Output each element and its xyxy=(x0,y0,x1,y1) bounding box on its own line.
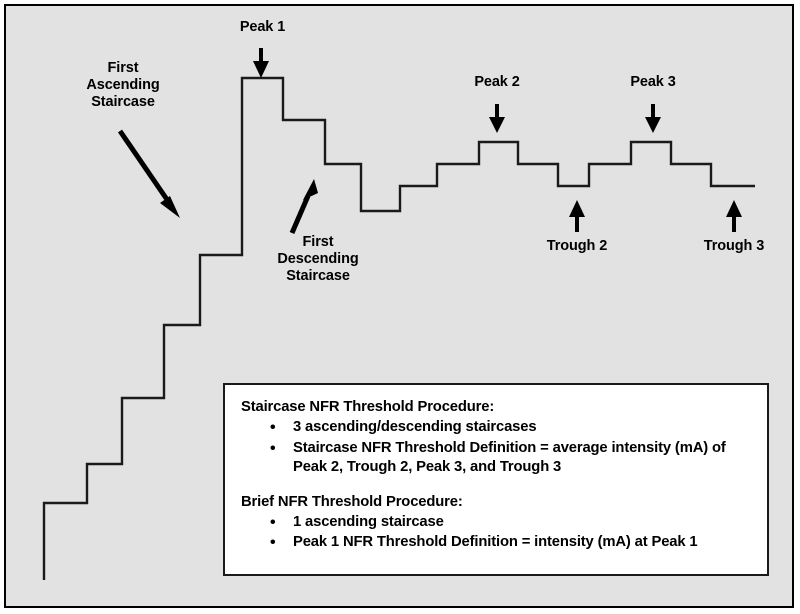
brief-procedure-heading: Brief NFR Threshold Procedure: xyxy=(241,494,751,510)
list-item-text: 1 ascending staircase xyxy=(293,514,444,530)
peak-2-label: Peak 2 xyxy=(447,74,547,91)
trough-3-label: Trough 3 xyxy=(678,238,790,255)
bullet-icon: • xyxy=(270,418,275,438)
list-item: • 3 ascending/descending staircases xyxy=(241,418,751,438)
staircase-procedure-list: • 3 ascending/descending staircases • St… xyxy=(241,418,751,478)
list-item: • Staircase NFR Threshold Definition = a… xyxy=(241,439,751,478)
bullet-icon: • xyxy=(270,439,275,459)
list-item: • 1 ascending staircase xyxy=(241,513,751,533)
trough-2-label: Trough 2 xyxy=(521,238,633,255)
peak-1-arrow-icon xyxy=(253,48,269,78)
list-item-text: 3 ascending/descending staircases xyxy=(293,419,536,435)
brief-procedure-list: • 1 ascending staircase • Peak 1 NFR Thr… xyxy=(241,513,751,553)
staircase-procedure-heading: Staircase NFR Threshold Procedure: xyxy=(241,399,751,415)
peak-2-arrow-icon xyxy=(489,104,505,133)
trough-3-arrow-icon xyxy=(726,200,742,232)
peak-3-arrow-icon xyxy=(645,104,661,133)
first-ascending-staircase-label: First Ascending Staircase xyxy=(63,60,183,111)
list-item: • Peak 1 NFR Threshold Definition = inte… xyxy=(241,533,751,553)
list-item-text: Staircase NFR Threshold Definition = ave… xyxy=(293,440,726,476)
first-descending-staircase-label: First Descending Staircase xyxy=(258,234,378,285)
figure-root: First Ascending Staircase Peak 1 First D… xyxy=(0,0,800,614)
peak-3-label: Peak 3 xyxy=(603,74,703,91)
trough-2-arrow-icon xyxy=(569,200,585,232)
peak-1-label: Peak 1 xyxy=(210,19,315,36)
bullet-icon: • xyxy=(270,533,275,553)
first-descending-staircase-arrow-icon xyxy=(292,179,318,233)
procedure-legend-box: Staircase NFR Threshold Procedure: • 3 a… xyxy=(223,383,769,576)
list-item-text: Peak 1 NFR Threshold Definition = intens… xyxy=(293,534,697,550)
first-ascending-staircase-arrow-icon xyxy=(120,131,180,218)
legend-spacer xyxy=(241,479,751,494)
bullet-icon: • xyxy=(270,513,275,533)
